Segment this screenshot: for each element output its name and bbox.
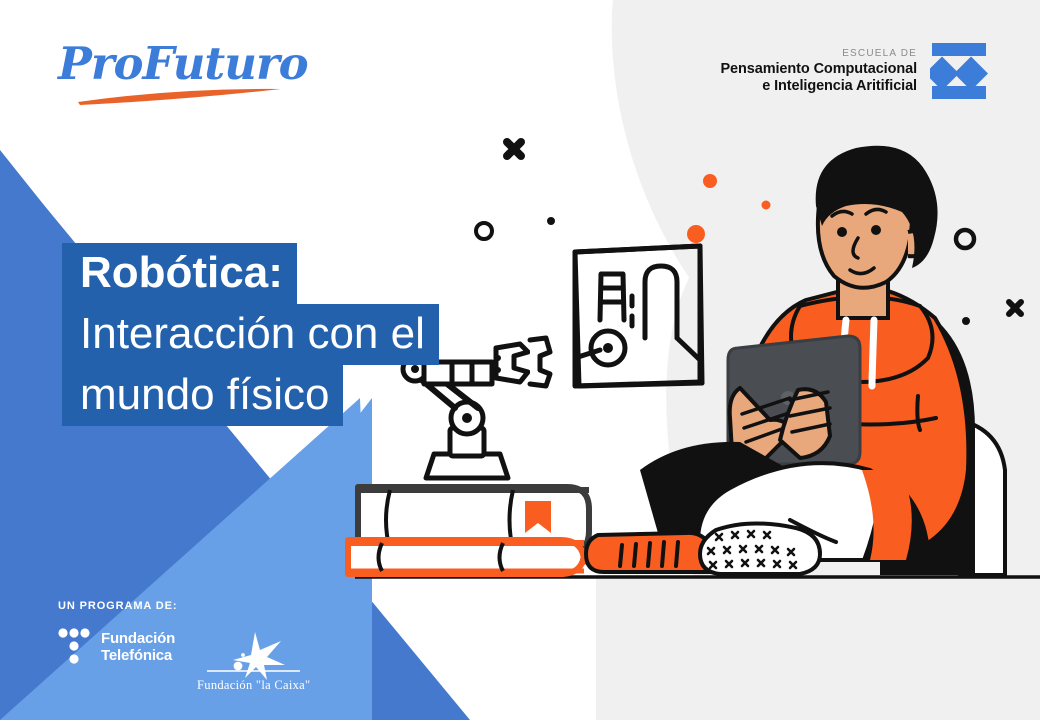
escuela-text-group: ESCUELA DE Pensamiento Computacional e I… xyxy=(720,48,917,95)
telefonica-dots-icon xyxy=(58,628,92,666)
sponsor-logos: Fundación Telefónica Fundación "la Caixa… xyxy=(58,628,310,693)
decor-ring-icon-2 xyxy=(956,230,974,248)
escuela-lockup: ESCUELA DE Pensamiento Computacional e I… xyxy=(720,42,988,100)
page-title-line-3: mundo físico xyxy=(62,365,343,426)
person-illustration xyxy=(586,146,1005,575)
lacaixa-wordmark: Fundación "la Caixa" xyxy=(197,678,310,693)
escuela-title-line-1: Pensamiento Computacional xyxy=(720,61,917,78)
profuturo-wordmark: ProFuturo xyxy=(58,38,288,90)
eye-right xyxy=(871,225,881,235)
fundacion-lacaixa-logo: Fundación "la Caixa" xyxy=(197,628,310,693)
title-block: Robótica: Interacción con el mundo físic… xyxy=(62,243,439,426)
sneaker-orange xyxy=(586,533,716,572)
decor-orange-dot-lg xyxy=(687,225,705,243)
program-label: UN PROGRAMA DE: xyxy=(58,600,177,612)
decor-orange-dot-md xyxy=(703,174,717,188)
slide-canvas: ProFuturo ESCUELA DE Pensamiento Computa… xyxy=(0,0,1040,720)
decor-orange-dot-sm xyxy=(762,201,771,210)
escuela-mark-icon xyxy=(930,42,988,100)
telefonica-line-2: Telefónica xyxy=(101,647,175,664)
fundacion-telefonica-logo: Fundación Telefónica xyxy=(58,628,175,666)
hood-string-right xyxy=(872,320,874,386)
lacaixa-star-icon xyxy=(197,630,309,682)
telefonica-wordmark-group: Fundación Telefónica xyxy=(101,630,175,664)
decor-dot-2 xyxy=(962,317,970,325)
escuela-eyebrow: ESCUELA DE xyxy=(720,48,917,60)
decor-cross-icon xyxy=(507,142,521,156)
framed-chart-icon xyxy=(575,246,702,386)
profuturo-logo: ProFuturo xyxy=(58,38,288,110)
sneaker-white xyxy=(700,523,820,574)
book-bottom xyxy=(348,540,584,574)
eye-left xyxy=(837,227,847,237)
escuela-title-line-2: e Inteligencia Aritificial xyxy=(720,78,917,95)
framed-chart-contents xyxy=(575,266,700,365)
decor-ring-icon xyxy=(476,223,492,239)
telefonica-line-1: Fundación xyxy=(101,630,175,647)
decor-dot xyxy=(547,217,555,225)
page-title-line-1: Robótica: xyxy=(62,243,297,304)
page-title-line-2: Interacción con el xyxy=(62,304,439,365)
decor-cross-icon-2 xyxy=(1009,302,1021,314)
